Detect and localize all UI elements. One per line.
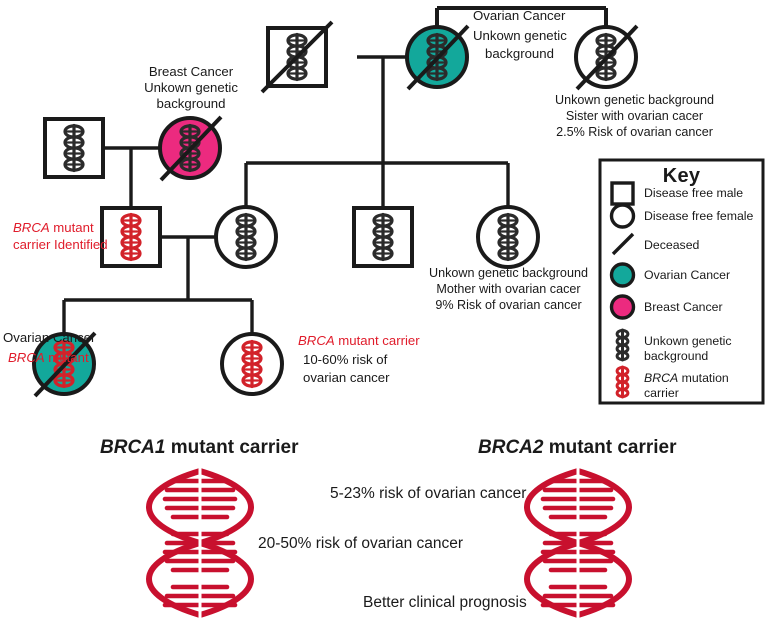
label-gen3-father-line2: carrier Identified	[13, 237, 108, 253]
person-gen1-aunt	[576, 26, 637, 89]
teal-circle-icon	[612, 264, 634, 286]
label-gen1-mother-line1: Ovarian Cancer	[473, 8, 565, 24]
person-gen3-father-brca-carrier	[102, 208, 160, 266]
label-gen2-mother-line1: Breast Cancer	[127, 64, 255, 80]
brca2-italic: BRCA2	[478, 437, 543, 458]
key-label-disease-free-female: Disease free female	[644, 209, 753, 224]
label-gen4-daughter1-line2: BRCA mutant	[8, 350, 89, 366]
brca-italic-1: BRCA	[13, 220, 50, 235]
bottom-line-1: 5-23% risk of ovarian cancer	[330, 485, 526, 504]
key-label-ovarian-cancer: Ovarian Cancer	[644, 268, 730, 283]
brca1-heading-rest: mutant carrier	[165, 437, 298, 458]
circle-icon	[612, 205, 634, 227]
label-gen1-mother-line3: background	[485, 46, 554, 62]
label-gen3-sister-line1: Unkown genetic background	[421, 266, 596, 281]
label-gen4-daughter2-line1: BRCA mutant carrier	[298, 333, 420, 349]
pink-circle-icon	[612, 296, 634, 318]
label-gen4-daughter2-rest: mutant carrier	[335, 333, 420, 348]
person-gen1-father	[262, 22, 332, 92]
brca2-helix	[527, 465, 629, 621]
brca1-helix	[149, 465, 251, 621]
label-gen4-daughter2-line2: 10-60% risk of	[303, 352, 387, 368]
key-label-brca-mutation-carrier: BRCA mutation carrier	[644, 371, 729, 400]
label-gen3-father-line1: BRCA mutant	[13, 220, 94, 236]
brca2-heading: BRCA2 mutant carrier	[478, 436, 677, 459]
brca1-heading: BRCA1 mutant carrier	[100, 436, 299, 459]
person-gen2-left-mother-breast-cancer	[160, 117, 221, 180]
bottom-line-3: Better clinical prognosis	[363, 594, 527, 613]
person-gen4-daughter2-brca-carrier	[222, 334, 282, 394]
label-gen1-aunt-line3: 2.5% Risk of ovarian cancer	[527, 125, 742, 140]
key-label-unknown-genetic-background: Unkown genetic background	[644, 334, 732, 363]
key-label-deceased: Deceased	[644, 238, 699, 253]
person-gen1-mother	[407, 26, 468, 89]
label-gen1-aunt-line1: Unkown genetic background	[527, 93, 742, 108]
person-gen3-mother	[216, 207, 276, 267]
key-label-disease-free-male: Disease free male	[644, 186, 743, 201]
label-gen1-aunt-line2: Sister with ovarian cacer	[527, 109, 742, 124]
brca2-heading-rest: mutant carrier	[543, 437, 676, 458]
label-gen4-daughter1-line1: Ovarian Cancer	[3, 330, 95, 346]
brca-italic-2: BRCA	[8, 350, 45, 365]
label-gen4-daughter1-rest: mutant	[45, 350, 89, 365]
label-gen3-father-rest1: mutant	[50, 220, 94, 235]
label-gen1-mother-line2: Unkown genetic	[473, 28, 567, 44]
label-gen2-mother-line2: Unkown genetic	[127, 80, 255, 96]
label-gen4-daughter2-line3: ovarian cancer	[303, 370, 390, 386]
label-gen3-sister-line2: Mother with ovarian cacer	[421, 282, 596, 297]
key-title: Key	[600, 164, 763, 188]
person-gen3-sister	[478, 207, 538, 267]
brca-italic-4: BRCA	[644, 371, 678, 385]
label-gen2-mother-line3: background	[127, 96, 255, 112]
bottom-line-2: 20-50% risk of ovarian cancer	[258, 535, 463, 554]
person-gen2-left-father	[45, 119, 103, 177]
key-label-breast-cancer: Breast Cancer	[644, 300, 723, 315]
brca1-italic: BRCA1	[100, 437, 165, 458]
figure-canvas: Ovarian Cancer Unkown genetic background…	[0, 0, 768, 628]
brca-italic-3: BRCA	[298, 333, 335, 348]
person-gen3-brother	[354, 208, 412, 266]
label-gen3-sister-line3: 9% Risk of ovarian cancer	[421, 298, 596, 313]
